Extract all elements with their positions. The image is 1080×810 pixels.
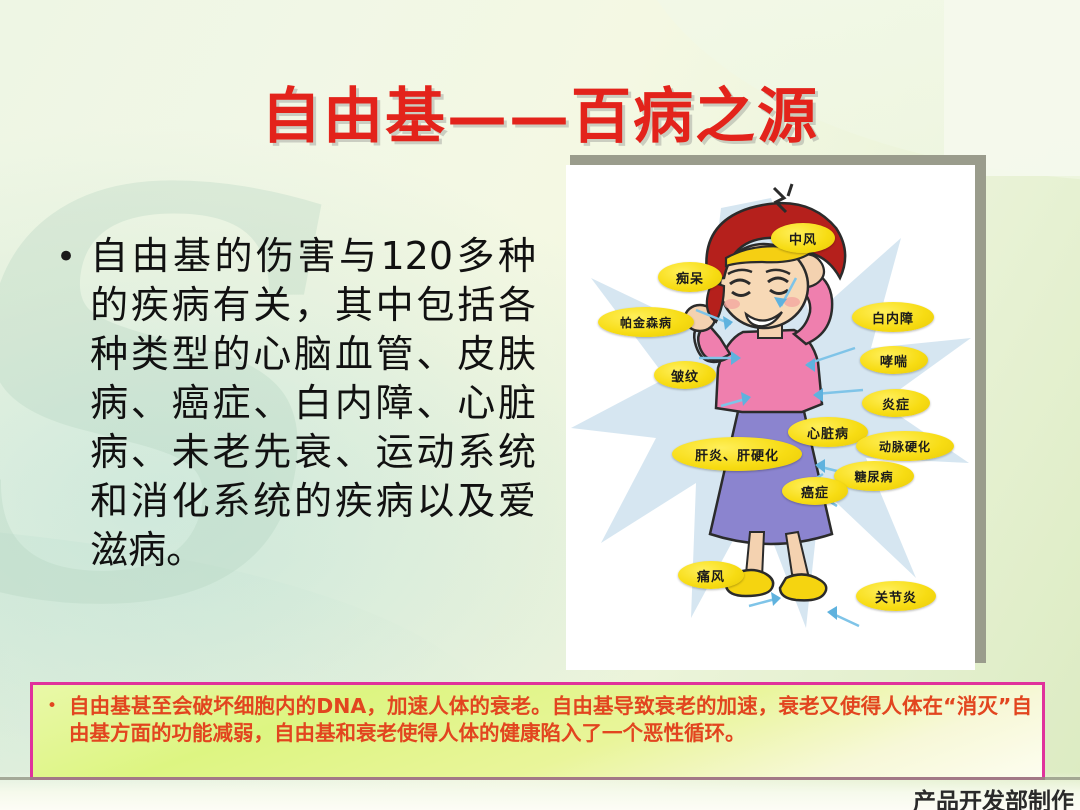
disease-label: 肝炎、肝硬化 bbox=[672, 437, 802, 471]
disease-label: 白内障 bbox=[852, 302, 934, 332]
illustration-canvas: 中风痴呆帕金森病皱纹白内障哮喘炎症心脏病动脉硬化肝炎、肝硬化糖尿病癌症痛风关节炎 bbox=[566, 165, 975, 670]
label-pointer-arrows-icon bbox=[571, 198, 971, 638]
callout-bullet-marker-icon: • bbox=[47, 693, 57, 719]
body-bullet-item: • 自由基的伤害与120多种的疾病有关，其中包括各种类型的心脑血管、皮肤病、癌症… bbox=[56, 232, 536, 575]
slide-root: S 自由基——百病之源 • 自由基的伤害与120多种的疾病有关，其中包括各种类型… bbox=[0, 0, 1080, 810]
disease-label: 关节炎 bbox=[856, 581, 936, 611]
footer-divider bbox=[0, 777, 1080, 780]
disease-label: 皱纹 bbox=[654, 361, 716, 389]
illustration-frame-right-shadow bbox=[975, 155, 986, 663]
disease-label: 中风 bbox=[771, 223, 835, 253]
summary-callout-box: • 自由基甚至会破坏细胞内的DNA，加速人体的衰老。自由基导致衰老的加速，衰老又… bbox=[30, 682, 1045, 780]
disease-label: 哮喘 bbox=[860, 346, 928, 374]
callout-text: 自由基甚至会破坏细胞内的DNA，加速人体的衰老。自由基导致衰老的加速，衰老又使得… bbox=[69, 693, 1032, 747]
bullet-marker-icon: • bbox=[56, 232, 76, 282]
disease-label: 帕金森病 bbox=[598, 307, 694, 337]
body-bullet-text: 自由基的伤害与120多种的疾病有关，其中包括各种类型的心脑血管、皮肤病、癌症、白… bbox=[90, 232, 536, 575]
disease-label: 炎症 bbox=[862, 389, 930, 417]
footer-credit: 产品开发部制作 bbox=[913, 782, 1074, 810]
slide-title: 自由基——百病之源 bbox=[0, 68, 1080, 155]
disease-label: 痛风 bbox=[678, 561, 744, 589]
disease-label: 癌症 bbox=[782, 477, 848, 505]
disease-label: 痴呆 bbox=[658, 262, 722, 292]
disease-label: 动脉硬化 bbox=[856, 431, 954, 461]
illustration-frame: 中风痴呆帕金森病皱纹白内障哮喘炎症心脏病动脉硬化肝炎、肝硬化糖尿病癌症痛风关节炎 bbox=[566, 155, 986, 670]
